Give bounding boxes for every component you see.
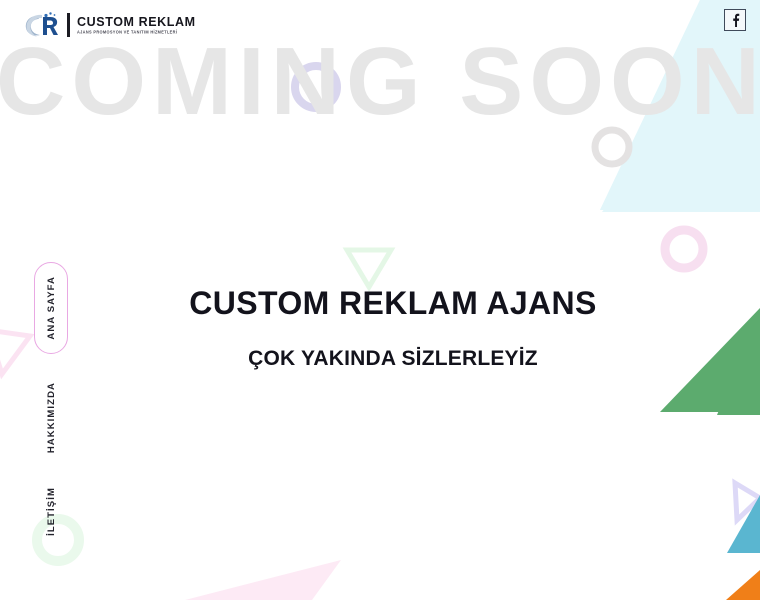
site-header: CUSTOM REKLAM AJANS PROMOSYON VE TANITIM… — [0, 0, 760, 48]
blue-triangle-bottom-right — [727, 495, 760, 553]
nav-item-iletisim-label: İLETİŞİM — [46, 487, 57, 536]
lavender-triangle-outline — [735, 483, 760, 520]
green-triangle-outline-center — [347, 250, 391, 287]
nav-item-hakkimizda[interactable]: HAKKIMIZDA — [34, 376, 68, 459]
hero-title: CUSTOM REKLAM AJANS — [189, 286, 597, 321]
logo-text-block: CUSTOM REKLAM AJANS PROMOSYON VE TANITIM… — [77, 16, 196, 35]
coming-soon-watermark: COMING SOON — [0, 34, 760, 130]
hero-subtitle: ÇOK YAKINDA SİZLERLEYİZ — [189, 347, 597, 370]
nav-item-hakkimizda-label: HAKKIMIZDA — [46, 382, 57, 453]
logo-title: CUSTOM REKLAM — [77, 16, 196, 29]
facebook-icon — [731, 13, 740, 27]
nav-spacer-2 — [34, 459, 74, 481]
pink-triangle-bottom — [212, 561, 340, 600]
logo[interactable]: CUSTOM REKLAM AJANS PROMOSYON VE TANITIM… — [22, 10, 196, 40]
orange-triangle-corner — [726, 570, 760, 600]
gray-ring-right — [595, 130, 629, 164]
logo-tagline: AJANS PROMOSYON VE TANITIM HİZMETLERİ — [77, 30, 196, 35]
custom-reklam-logo-icon — [22, 11, 60, 39]
nav-item-iletisim[interactable]: İLETİŞİM — [34, 481, 68, 542]
nav-item-ana-sayfa-label: ANA SAYFA — [46, 276, 57, 340]
hero-content: CUSTOM REKLAM AJANS ÇOK YAKINDA SİZLERLE… — [163, 286, 597, 369]
nav-spacer-1 — [34, 354, 74, 376]
pink-triangle-bottom-2 — [185, 560, 341, 600]
green-parallelogram-right — [717, 310, 760, 415]
pink-triangle-outline-left — [0, 330, 30, 374]
vertical-nav: ANA SAYFA HAKKIMIZDA İLETİŞİM — [34, 262, 74, 542]
logo-divider — [67, 13, 70, 37]
page-root: COMING SOON CUSTOM REKLAM AJANS PROMOSYO… — [0, 0, 760, 600]
pink-ring-right — [665, 230, 703, 268]
green-parallelogram-right-body — [660, 308, 760, 412]
facebook-link[interactable] — [724, 9, 746, 31]
nav-item-ana-sayfa[interactable]: ANA SAYFA — [34, 262, 68, 354]
